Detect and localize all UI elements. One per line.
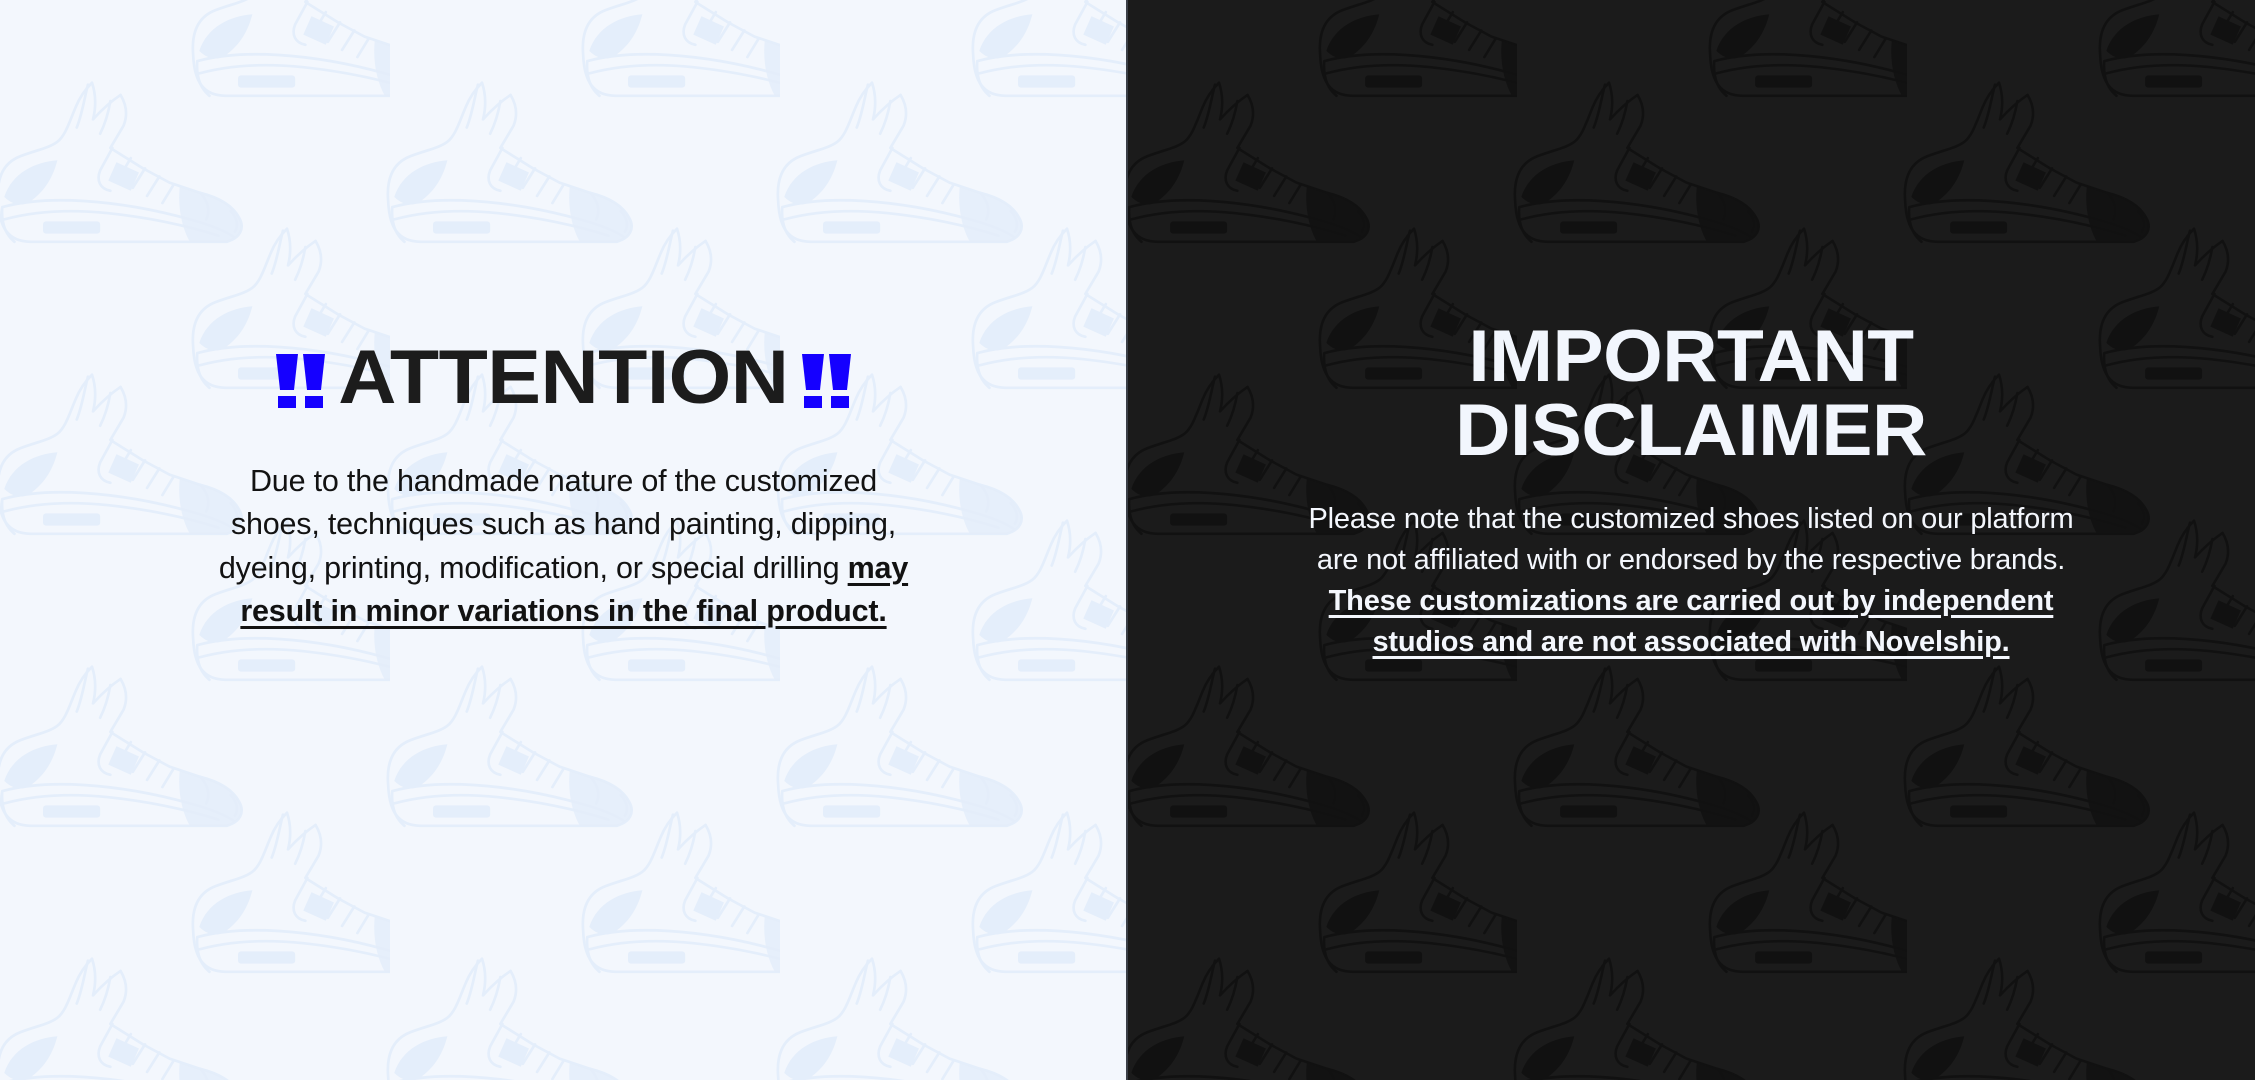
disclaimer-headline-line1: IMPORTANT bbox=[1255, 320, 2127, 394]
disclaimer-headline: IMPORTANT DISCLAIMER bbox=[1255, 320, 2127, 469]
attention-body: Due to the handmade nature of the custom… bbox=[214, 460, 914, 633]
disclaimer-panel: IMPORTANT DISCLAIMER Please note that th… bbox=[1127, 0, 2255, 1080]
attention-body-lead: Due to the handmade nature of the custom… bbox=[219, 464, 896, 585]
disclaimer-body: Please note that the customized shoes li… bbox=[1286, 499, 2096, 664]
attention-content: ATTENTION Due to the handmade nature of … bbox=[149, 340, 979, 633]
double-exclamation-icon-left bbox=[276, 354, 325, 408]
attention-headline: ATTENTION bbox=[149, 340, 979, 416]
customs-disclaimer-banner: ATTENTION Due to the handmade nature of … bbox=[0, 0, 2255, 1080]
attention-headline-text: ATTENTION bbox=[338, 340, 788, 416]
attention-panel: ATTENTION Due to the handmade nature of … bbox=[0, 0, 1127, 1080]
disclaimer-headline-line2: DISCLAIMER bbox=[1255, 394, 2127, 468]
panel-divider bbox=[1126, 0, 1128, 1080]
disclaimer-body-lead: Please note that the customized shoes li… bbox=[1309, 503, 2074, 576]
disclaimer-body-emphasis: These customizations are carried out by … bbox=[1329, 585, 2054, 658]
disclaimer-content: IMPORTANT DISCLAIMER Please note that th… bbox=[1276, 320, 2106, 664]
double-exclamation-icon-right bbox=[802, 354, 851, 408]
